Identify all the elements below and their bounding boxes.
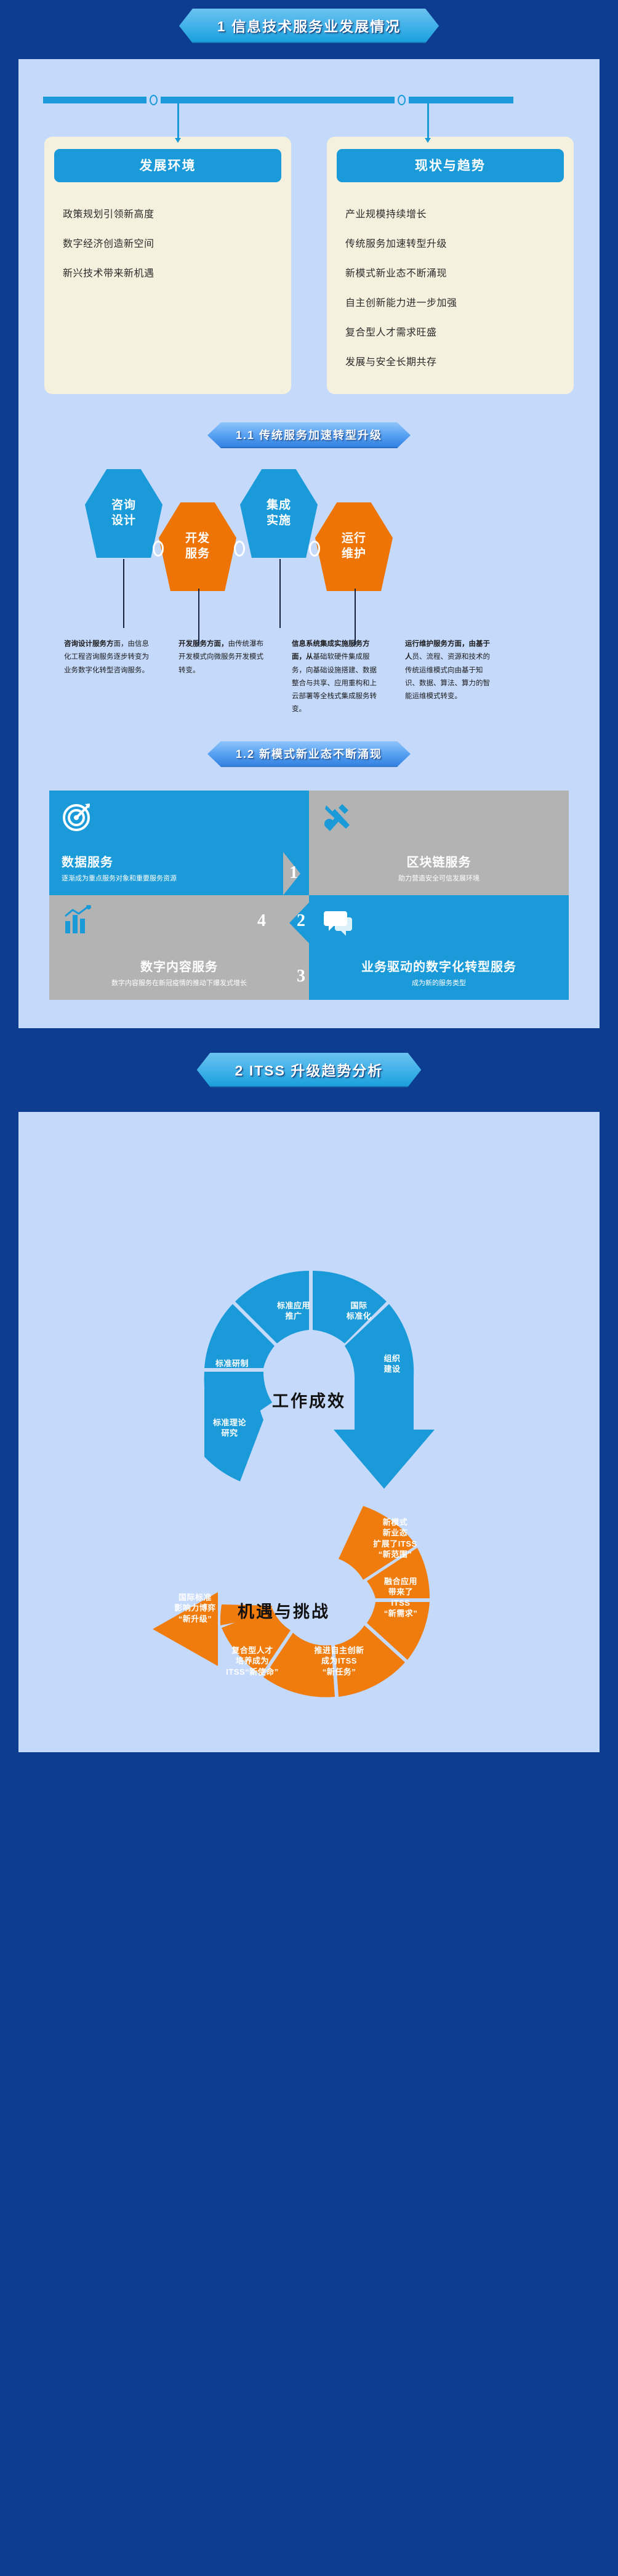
section2-banner: 2 ITSS 升级趋势分析 [197, 1053, 422, 1087]
hexagon-connector-dot-1 [153, 541, 164, 557]
quadrant-subtitle: 助力营造安全可信发展环境 [321, 874, 556, 884]
label-line: “新需求” [367, 1608, 435, 1619]
label-line: 建设 [364, 1364, 420, 1375]
hexagon-label-line2: 维护 [342, 547, 366, 562]
list-item: 新兴技术带来新机遇 [54, 257, 281, 287]
label-line: 影响力博弈 [161, 1603, 229, 1614]
label-line: ITSS“新使命” [209, 1667, 295, 1678]
list-item: 复合型人才需求旺盛 [337, 316, 564, 346]
section11-banner-text: 1.1 传统服务加速转型升级 [236, 429, 382, 441]
section1-banner-wrap: 1 信息技术服务业发展情况 [0, 0, 618, 59]
quadrant-arrow-4 [263, 900, 288, 941]
label-line: “新范围” [361, 1549, 430, 1560]
s-curve-diagram: 标准应用 推广 国际 标准化 标准研制 组织 建设 标准理论 研究 工作成效 新… [18, 1112, 600, 1728]
card-status-and-trends: 现状与趋势 产业规模持续增长 传统服务加速转型升级 新模式新业态不断涌现 自主创… [327, 137, 574, 394]
hexagon-label-line1: 咨询 [111, 498, 136, 513]
hexagon-label-line2: 设计 [111, 513, 136, 529]
label-line: 融合应用 [367, 1576, 435, 1587]
hexagon-flow: 咨询 设计 开发 服务 集成 实施 运行 维护 [18, 454, 600, 739]
hexagon-label-line2: 服务 [185, 547, 210, 562]
ribbon-shadow [183, 42, 435, 47]
leader-line-4 [355, 589, 356, 645]
hexagon-consulting-design[interactable]: 咨询 设计 [85, 469, 163, 558]
description-operation-maintenance: 运行维护服务方面，由基于人员、流程、资源和技术的传统运维模式向由基于知识、数据、… [405, 638, 491, 717]
label-line: 研究 [196, 1428, 263, 1439]
section12-quadrants: 数据服务 逐渐成为重点服务对象和重要服务资源 区块链服务 助力营造安全可信发展环… [18, 772, 600, 1028]
s-curve-label-standard-theory-research: 标准理论 研究 [196, 1417, 263, 1439]
quadrant-number-4: 4 [257, 911, 266, 931]
s-curve-svg [18, 1112, 600, 1721]
card-title: 发展环境 [54, 149, 281, 182]
connector-bar-left [43, 97, 146, 103]
section2-banner-text: 2 ITSS 升级趋势分析 [235, 1063, 383, 1079]
label-line: ITSS [367, 1598, 435, 1609]
quadrant-subtitle: 数字内容服务在新冠疫情的推动下爆发式增长 [62, 978, 297, 989]
section1-banner-text: 1 信息技术服务业发展情况 [217, 18, 401, 34]
connector-bar-right [409, 97, 513, 103]
list-item: 发展与安全长期共存 [337, 346, 564, 376]
section11-banner-wrap: 1.1 传统服务加速转型升级 [18, 419, 600, 454]
label-line: 带来了 [367, 1587, 435, 1598]
ribbon-shadow [211, 447, 407, 453]
hexagon-operation-maintenance[interactable]: 运行 维护 [315, 502, 393, 591]
quadrant-blockchain-service[interactable]: 区块链服务 助力营造安全可信发展环境 [309, 791, 569, 895]
connector-drop-1 [177, 100, 179, 139]
chat-icon [321, 905, 353, 937]
hexagon-label-line1: 运行 [342, 531, 366, 547]
section12-banner-text: 1.2 新模式新业态不断涌现 [236, 748, 382, 760]
leader-line-3 [279, 559, 281, 628]
description-body: 基础软硬件集成服务，向基础设施搭建、数据整合与共享、应用重构和上云部署等全栈式集… [292, 653, 377, 713]
hexagon-label-line2: 实施 [267, 513, 291, 529]
connector-line-row [43, 95, 575, 105]
s-curve-label-international-standardization: 国际 标准化 [325, 1300, 393, 1322]
connector-node-2 [398, 95, 406, 105]
label-line: 组织 [364, 1353, 420, 1364]
label-line: 成为ITSS [299, 1656, 379, 1667]
ribbon-shadow [211, 766, 407, 771]
connector-drop-2 [427, 100, 429, 139]
label-line: “新任务” [299, 1667, 379, 1678]
quadrant-number-1: 1 [289, 863, 298, 883]
description-integration-implementation: 信息系统集成实施服务方面，从基础软硬件集成服务，向基础设施搭建、数据整合与共享、… [292, 638, 378, 717]
label-line: 标准化 [325, 1311, 393, 1322]
description-body: 员、流程、资源和技术的传统运维模式向由基于知识、数据、算法、算力的智能运维模式转… [405, 653, 490, 700]
hexagon-label-line1: 开发 [185, 531, 210, 547]
hexagon-descriptions: 咨询设计服务方面，由信息化工程咨询服务逐步转变为业务数字化转型咨询服务。 开发服… [18, 638, 600, 739]
card-development-environment: 发展环境 政策规划引领新高度 数字经济创造新空间 新兴技术带来新机遇 [44, 137, 291, 394]
label-line: 推广 [260, 1311, 327, 1322]
list-item: 产业规模持续增长 [337, 198, 564, 228]
section1-connector [18, 59, 600, 137]
label-line: 复合型人才 [209, 1645, 295, 1656]
hexagon-leader-lines [18, 585, 600, 638]
quadrant-title: 数据服务 [62, 852, 113, 870]
description-lead: 开发服务方面， [179, 640, 228, 648]
s-curve-label-new-model-new-format: 新模式 新业态 扩展了ITSS “新范围” [361, 1517, 430, 1560]
quadrant-data-service[interactable]: 数据服务 逐渐成为重点服务对象和重要服务资源 [49, 791, 309, 895]
section11-banner: 1.1 传统服务加速转型升级 [207, 422, 411, 448]
label-line: 标准应用 [260, 1300, 327, 1311]
quadrant-title: 数字内容服务 [62, 957, 297, 975]
description-consulting-design: 咨询设计服务方面，由信息化工程咨询服务逐步转变为业务数字化转型咨询服务。 [64, 638, 150, 717]
label-line: 标准研制 [198, 1358, 266, 1369]
label-line: 推进自主创新 [299, 1645, 379, 1656]
label-line: 新模式 [361, 1517, 430, 1528]
hexagon-row: 咨询 设计 开发 服务 集成 实施 运行 维护 [18, 468, 600, 585]
quadrant-title: 区块链服务 [321, 852, 556, 870]
label-line: 新业态 [361, 1527, 430, 1539]
s-curve-label-international-standard-influence: 国际标准 影响力博弈 “新升级” [161, 1592, 229, 1625]
quadrant-digital-transformation-service[interactable]: 业务驱动的数字化转型服务 成为新的服务类型 [309, 895, 569, 1000]
s-curve-label-integrated-application: 融合应用 带来了 ITSS “新需求” [367, 1576, 435, 1619]
hexagon-development-service[interactable]: 开发 服务 [159, 502, 236, 591]
s-curve-center-upper: 工作成效 [272, 1388, 346, 1412]
leader-line-1 [123, 559, 124, 628]
list-item: 政策规划引领新高度 [54, 198, 281, 228]
s-curve-label-standard-development: 标准研制 [198, 1358, 266, 1369]
quadrant-subtitle: 逐渐成为重点服务对象和重要服务资源 [62, 874, 177, 884]
target-arrow-icon [62, 800, 94, 832]
s-curve-label-composite-talent: 复合型人才 培养成为 ITSS“新使命” [209, 1645, 295, 1678]
s-curve-center-lower: 机遇与挑战 [238, 1598, 330, 1622]
section1-panel: 发展环境 政策规划引领新高度 数字经济创造新空间 新兴技术带来新机遇 现状与趋势… [18, 59, 600, 1028]
connector-node-1 [150, 95, 158, 105]
connector-bar-middle [161, 97, 395, 103]
quadrant-title: 业务驱动的数字化转型服务 [321, 957, 556, 975]
label-line: 培养成为 [209, 1656, 295, 1667]
tools-icon [321, 800, 353, 832]
label-line: 标准理论 [196, 1417, 263, 1428]
ribbon-shadow [201, 1086, 418, 1092]
label-line: “新升级” [161, 1614, 229, 1625]
list-item: 数字经济创造新空间 [54, 228, 281, 257]
hexagon-integration-implementation[interactable]: 集成 实施 [240, 469, 318, 558]
quadrant-subtitle: 成为新的服务类型 [321, 978, 556, 989]
card-title: 现状与趋势 [337, 149, 564, 182]
s-curve-label-organization-building: 组织 建设 [364, 1353, 420, 1375]
quadrant-grid: 数据服务 逐渐成为重点服务对象和重要服务资源 区块链服务 助力营造安全可信发展环… [49, 791, 569, 1000]
section1-banner: 1 信息技术服务业发展情况 [179, 9, 439, 43]
hexagon-connector-dot-3 [309, 541, 320, 557]
s-curve-label-independent-innovation: 推进自主创新 成为ITSS “新任务” [299, 1645, 379, 1678]
quadrant-number-3: 3 [297, 967, 305, 986]
hexagon-connector-dot-2 [234, 541, 245, 557]
s-curve-label-standard-application: 标准应用 推广 [260, 1300, 327, 1322]
section12-banner-wrap: 1.2 新模式新业态不断涌现 [18, 739, 600, 772]
description-development-service: 开发服务方面，由传统瀑布开发模式向微服务开发模式转变。 [179, 638, 265, 717]
label-line: 国际标准 [161, 1592, 229, 1603]
list-item: 传统服务加速转型升级 [337, 228, 564, 257]
quadrant-number-2: 2 [297, 911, 305, 931]
description-lead: 咨询设计服务方 [64, 640, 114, 648]
list-item: 自主创新能力进一步加强 [337, 287, 564, 316]
section2-banner-wrap: 2 ITSS 升级趋势分析 [0, 1028, 618, 1112]
section2-panel: 标准应用 推广 国际 标准化 标准研制 组织 建设 标准理论 研究 工作成效 新… [18, 1112, 600, 1752]
leader-line-2 [198, 589, 199, 645]
label-line: 扩展了ITSS [361, 1539, 430, 1550]
label-line: 国际 [325, 1300, 393, 1311]
list-item: 新模式新业态不断涌现 [337, 257, 564, 287]
hexagon-label-line1: 集成 [267, 498, 291, 513]
section12-banner: 1.2 新模式新业态不断涌现 [207, 741, 411, 767]
section1-cards: 发展环境 政策规划引领新高度 数字经济创造新空间 新兴技术带来新机遇 现状与趋势… [18, 137, 600, 419]
